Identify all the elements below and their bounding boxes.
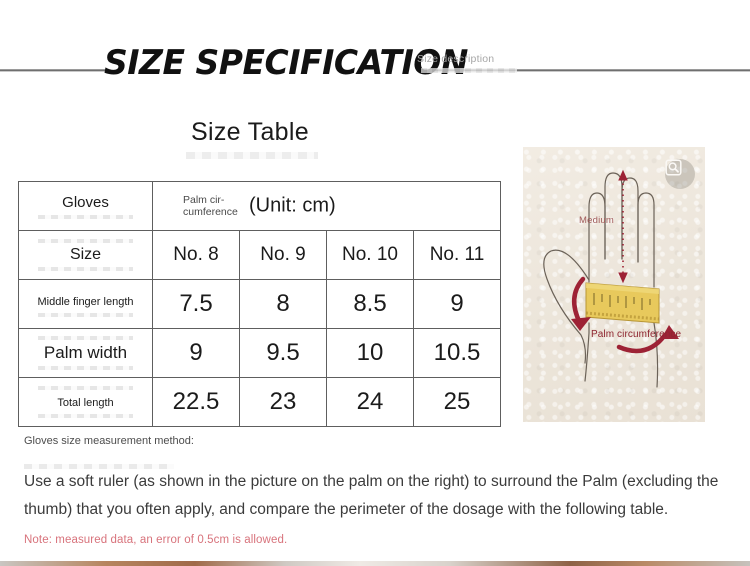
cell-tl-11: 25: [414, 378, 501, 427]
cell-mfl-10: 8.5: [327, 280, 414, 329]
banner-watermark: [421, 68, 517, 73]
cell-pw-8: 9: [153, 329, 240, 378]
ghost-underline: [38, 313, 134, 317]
heading-watermark: [186, 152, 318, 159]
header-label-gloves: Gloves: [62, 194, 109, 211]
row-label-middle-finger-length: Middle finger length: [19, 280, 153, 329]
table-row: Middle finger length 7.5 8 8.5 9: [19, 280, 501, 329]
medium-label: Medium: [579, 215, 614, 226]
palm-circumference-label: Palm circumference: [591, 329, 681, 340]
banner-rule-left: [0, 69, 106, 72]
ghost-overline: [38, 239, 134, 243]
header-label-palm-circumference: Palm cir- cumference: [183, 194, 238, 218]
cell-tl-9: 23: [240, 378, 327, 427]
measurement-instructions: Use a soft ruler (as shown in the pictur…: [24, 468, 724, 524]
hand-measurement-image[interactable]: Medium Palm circumference: [523, 147, 705, 422]
banner-subtitle: Size description: [417, 53, 494, 65]
row-label-palm-width: Palm width: [19, 329, 153, 378]
row-label-text: Palm width: [44, 343, 127, 362]
ghost-underline: [38, 215, 134, 219]
size-specification-page: SIZE SPECIFICATION Size description Size…: [0, 0, 750, 566]
row-label-text: Middle finger length: [37, 296, 133, 308]
cell-tl-10: 24: [327, 378, 414, 427]
cell-pw-9: 9.5: [240, 329, 327, 378]
table-row-header: Gloves Palm cir- cumference (Unit: cm): [19, 182, 501, 231]
cell-mfl-9: 8: [240, 280, 327, 329]
cell-size-11: No. 11: [414, 231, 501, 280]
unit-note: (Unit: cm): [249, 195, 336, 218]
medium-arrow: [619, 171, 627, 282]
cell-size-10: No. 10: [327, 231, 414, 280]
table-row: Total length 22.5 23 24 25: [19, 378, 501, 427]
bottom-image-strip: [0, 561, 750, 566]
size-table-heading: Size Table: [0, 118, 500, 147]
cell-size-8: No. 8: [153, 231, 240, 280]
cell-mfl-8: 7.5: [153, 280, 240, 329]
banner-title: SIZE SPECIFICATION: [104, 46, 468, 80]
row-label-total-length: Total length: [19, 378, 153, 427]
row-label-size: Size: [19, 231, 153, 280]
ghost-underline: [38, 267, 134, 271]
table-cell-gloves: Gloves: [19, 182, 153, 231]
cell-size-9: No. 9: [240, 231, 327, 280]
measurement-method-title: Gloves size measurement method:: [24, 434, 244, 449]
ghost-overline: [38, 336, 134, 340]
cell-pw-10: 10: [327, 329, 414, 378]
row-label-text: Size: [70, 246, 101, 263]
ghost-overline: [38, 386, 134, 390]
magnifier-icon: [665, 159, 682, 176]
ghost-underline: [38, 366, 134, 370]
ruler: [586, 283, 659, 323]
measurement-note: Note: measured data, an error of 0.5cm i…: [24, 534, 524, 546]
row-label-text: Total length: [57, 397, 113, 409]
table-row: Size No. 8 No. 9 No. 10 No. 11: [19, 231, 501, 280]
cell-pw-11: 10.5: [414, 329, 501, 378]
size-table: Gloves Palm cir- cumference (Unit: cm) S…: [18, 181, 501, 427]
table-cell-palm-circumference: Palm cir- cumference (Unit: cm): [153, 182, 501, 231]
table-row: Palm width 9 9.5 10 10.5: [19, 329, 501, 378]
ghost-underline: [38, 414, 134, 418]
banner: SIZE SPECIFICATION Size description: [0, 24, 750, 72]
cell-mfl-11: 9: [414, 280, 501, 329]
cell-tl-8: 22.5: [153, 378, 240, 427]
image-zoom-button[interactable]: [665, 159, 695, 189]
